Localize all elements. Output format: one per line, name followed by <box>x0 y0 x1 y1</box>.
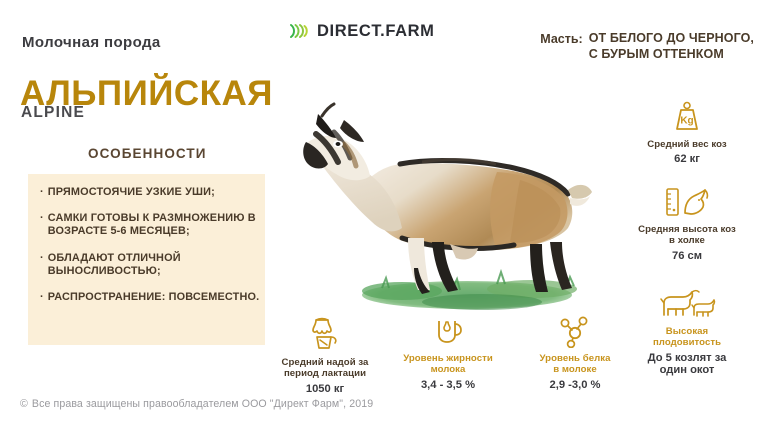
stat-withers-height: Средняя высота коз в холке 76 см <box>612 185 762 262</box>
bullet-icon: · <box>40 291 44 304</box>
weight-kg-icon: Kg <box>670 100 704 134</box>
stat-label: Уровень белка в молоке <box>540 353 611 376</box>
stat-label-line1: Средняя высота коз <box>638 224 736 235</box>
stat-label-line2: молока <box>431 364 466 375</box>
logo-waves-icon <box>288 20 310 42</box>
list-item: · ПРЯМОСТОЯЧИЕ УЗКИЕ УШИ; <box>40 186 262 199</box>
goat-tail <box>568 185 592 199</box>
stat-label-line1: Средний надой за <box>282 357 369 368</box>
stat-label-line2: плодовитость <box>653 337 721 348</box>
stat-label-line2: в холке <box>669 235 705 246</box>
stat-value: 62 кг <box>674 153 700 166</box>
coat-color-label: Масть: <box>540 31 582 46</box>
stat-label: Средний надой за период лактации <box>282 357 369 380</box>
list-item: · САМКИ ГОТОВЫ К РАЗМНОЖЕНИЮ В ВОЗРАСТЕ … <box>40 212 262 238</box>
stat-milk-fat: Уровень жирности молока 3,4 - 3,5 % <box>383 316 513 391</box>
list-item: · РАСПРОСТРАНЕНИЕ: ПОВСЕМЕСТНО. <box>40 291 262 304</box>
copyright-icon: © <box>20 398 28 410</box>
stat-value: 2,9 -3,0 % <box>550 379 601 392</box>
list-item: · ОБЛАДАЮТ ОТЛИЧНОЙ ВЫНОСЛИВОСТЬЮ; <box>40 252 262 278</box>
coat-color-value-line1: ОТ БЕЛОГО ДО ЧЕРНОГО, <box>589 31 754 45</box>
features-heading: ОСОБЕННОСТИ <box>88 146 207 161</box>
cup-droplet-icon <box>432 316 464 348</box>
coat-color-value-line2: С БУРЫМ ОТТЕНКОМ <box>589 47 724 61</box>
stat-label-line2: в молоке <box>553 364 597 375</box>
stat-label-line1: Уровень жирности <box>403 353 493 364</box>
udder-bucket-icon <box>307 316 343 352</box>
stat-value: 76 см <box>672 250 702 263</box>
stat-value: До 5 козлят за один окот <box>648 352 727 377</box>
stat-value-line1: До 5 козлят за <box>648 352 727 364</box>
coat-color-block: Масть: ОТ БЕЛОГО ДО ЧЕРНОГО, С БУРЫМ ОТТ… <box>540 31 754 62</box>
logo-text: DIRECT.FARM <box>317 23 435 40</box>
stat-value: 1050 кг <box>306 383 344 396</box>
stat-label: Высокая плодовитость <box>653 326 721 349</box>
stat-label-line2: период лактации <box>284 368 366 379</box>
feature-text: РАСПРОСТРАНЕНИЕ: ПОВСЕМЕСТНО. <box>48 291 260 304</box>
stat-label: Средний вес коз <box>647 139 726 150</box>
stat-label: Уровень жирности молока <box>403 353 493 376</box>
goat-ear-right <box>340 120 364 142</box>
copyright-footer: © Все права защищены правообладателем ОО… <box>20 398 373 410</box>
bullet-icon: · <box>40 186 44 199</box>
bullet-icon: · <box>40 252 44 265</box>
breed-kicker: Молочная порода <box>22 34 161 51</box>
coat-color-value: ОТ БЕЛОГО ДО ЧЕРНОГО, С БУРЫМ ОТТЕНКОМ <box>589 31 754 62</box>
bullet-icon: · <box>40 212 44 225</box>
infographic-page: DIRECT.FARM Молочная порода АЛЬПИЙСКАЯ A… <box>0 0 771 424</box>
goat-and-kid-icon <box>656 287 718 321</box>
feature-text: САМКИ ГОТОВЫ К РАЗМНОЖЕНИЮ В ВОЗРАСТЕ 5-… <box>48 212 262 238</box>
stat-milk-protein: Уровень белка в молоке 2,9 -3,0 % <box>510 316 640 391</box>
feature-text: ОБЛАДАЮТ ОТЛИЧНОЙ ВЫНОСЛИВОСТЬЮ; <box>48 252 262 278</box>
feature-text: ПРЯМОСТОЯЧИЕ УЗКИЕ УШИ; <box>48 186 215 199</box>
stat-value: 3,4 - 3,5 % <box>421 379 475 392</box>
stat-value-line2: один окот <box>660 364 715 376</box>
features-list: · ПРЯМОСТОЯЧИЕ УЗКИЕ УШИ; · САМКИ ГОТОВЫ… <box>40 186 262 317</box>
breed-latin-name: ALPINE <box>21 104 85 122</box>
stat-label-line1: Уровень белка <box>540 353 611 364</box>
ruler-goat-head-icon <box>661 185 713 219</box>
stat-label-line1: Высокая <box>666 326 708 337</box>
molecule-icon <box>558 316 592 348</box>
copyright-text: Все права защищены правообладателем ООО … <box>32 398 373 410</box>
stat-label: Средняя высота коз в холке <box>638 224 736 247</box>
stat-average-weight: Kg Средний вес коз 62 кг <box>612 100 762 166</box>
brand-logo[interactable]: DIRECT.FARM <box>288 20 435 42</box>
svg-text:Kg: Kg <box>680 116 693 127</box>
stat-milk-yield: Средний надой за период лактации 1050 кг <box>250 316 400 395</box>
alpine-goat-illustration <box>282 72 602 322</box>
